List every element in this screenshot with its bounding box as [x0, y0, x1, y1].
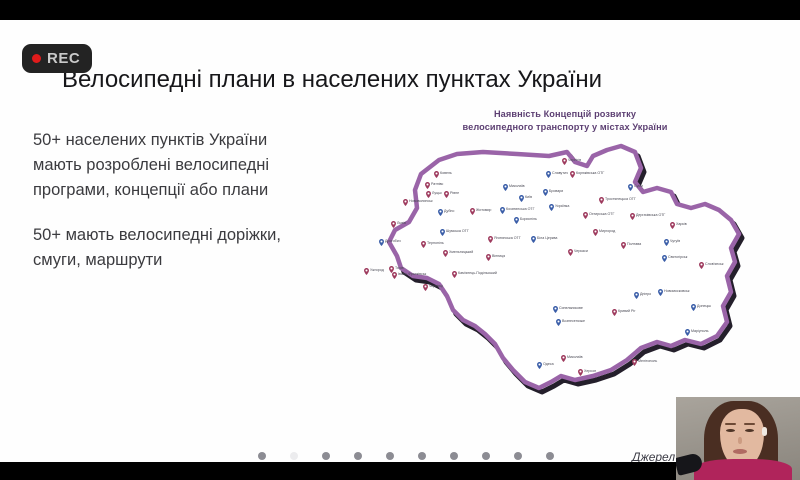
city-label: Ратнівс	[431, 182, 443, 186]
city-label: Миргород	[599, 229, 615, 233]
city-label: Нововолинськ	[409, 199, 433, 203]
speaker-nose	[738, 437, 742, 444]
map-pin-icon	[691, 298, 696, 316]
city-label: Українка	[555, 204, 569, 208]
map-pin-icon	[670, 216, 675, 234]
map-pin-icon	[578, 363, 583, 381]
city-label: Ужгород	[370, 268, 384, 272]
city-label: Чугуїв	[670, 239, 680, 243]
city-label: Тростянецька ОТГ	[605, 197, 636, 201]
map-pin-icon	[531, 230, 536, 248]
map-pin-icon	[438, 203, 443, 221]
city-label: Ковель	[440, 171, 452, 175]
city-label: Київ	[525, 195, 532, 199]
map-pin-icon	[500, 201, 505, 219]
pagination-dot[interactable]	[482, 452, 490, 460]
city-label: Кривий Ріг	[618, 309, 636, 313]
letterbox-top	[0, 0, 800, 20]
city-label: Слов'янськ	[705, 262, 724, 266]
speaker-eye-right	[745, 429, 754, 432]
pagination-dot[interactable]	[354, 452, 362, 460]
map-pin-icon	[423, 278, 428, 296]
city-label: Полтава	[627, 242, 641, 246]
pagination-dot[interactable]	[514, 452, 522, 460]
city-label: Славутич	[552, 171, 568, 175]
map-pin-icon	[391, 215, 396, 233]
map-pin-icon	[503, 178, 508, 196]
map-pin-icon	[440, 223, 445, 241]
map-pin-icon	[434, 165, 439, 183]
earbud-icon	[762, 427, 767, 436]
recording-label: REC	[47, 50, 80, 67]
city-label: Корюківська ОТГ	[576, 171, 604, 175]
pagination-dot[interactable]	[322, 452, 330, 460]
body-text-block: 50+ населених пунктів України мають розр…	[33, 128, 313, 273]
city-label: Хмельницький	[449, 250, 473, 254]
city-label: Біла Церква	[537, 236, 557, 240]
map-pin-icon	[556, 313, 561, 331]
city-label: Бровари	[549, 189, 563, 193]
pagination-dot[interactable]	[386, 452, 394, 460]
city-label: Суми	[634, 184, 643, 188]
page-title: Велосипедні плани в населених пунктах Ук…	[62, 66, 762, 94]
map-pin-icon	[546, 165, 551, 183]
map-pin-icon	[519, 189, 524, 207]
record-dot-icon	[32, 54, 41, 63]
city-label: Охтирська ОТГ	[589, 212, 614, 216]
city-label: Херсон	[584, 369, 596, 373]
map-pin-icon	[562, 152, 567, 170]
city-label: Миколаїв	[509, 184, 525, 188]
city-label: Рівне	[450, 191, 459, 195]
city-label: Дергачівська ОТГ	[636, 213, 665, 217]
city-label: Одеса	[543, 362, 554, 366]
city-label: Луцьк	[432, 191, 442, 195]
city-label: Львів	[397, 221, 406, 225]
pagination-dot[interactable]	[418, 452, 426, 460]
map-pin-icon	[599, 191, 604, 209]
city-label: Бориспіль	[520, 217, 537, 221]
map-title-line-1: Наявність Концепцій розвитку	[400, 108, 730, 121]
city-label: Синельникове	[559, 306, 583, 310]
map-pin-icon	[634, 286, 639, 304]
speaker-brow-right	[744, 423, 755, 425]
map-pin-icon	[392, 266, 397, 284]
map-pin-icon	[537, 356, 542, 374]
pagination-dot[interactable]	[290, 452, 298, 460]
map-pin-icon	[561, 349, 566, 367]
map-pin-icon	[403, 193, 408, 211]
map-pin-icon	[379, 233, 384, 251]
map-pin-icon	[628, 178, 633, 196]
recording-badge: REC	[22, 44, 92, 73]
city-label: Дубно	[444, 209, 454, 213]
city-label: Донецьк	[697, 304, 711, 308]
map-pin-icon	[568, 243, 573, 261]
city-label: Козятинська ОТГ	[506, 207, 535, 211]
speaker-eye-left	[726, 429, 735, 432]
map-pin-icon	[632, 353, 637, 371]
city-label: Яготинська ОТГ	[494, 236, 521, 240]
map-pin-icon	[630, 207, 635, 225]
city-label: Святогірськ	[668, 255, 687, 259]
city-label: Маріуполь	[691, 329, 708, 333]
map-pin-icon	[470, 202, 475, 220]
map-pin-icon	[486, 248, 491, 266]
city-label: Дніпро	[640, 292, 651, 296]
pagination-dot[interactable]	[450, 452, 458, 460]
map-pin-icon	[583, 206, 588, 224]
city-label: Мелітополь	[638, 359, 657, 363]
map-pin-icon	[593, 223, 598, 241]
map-pin-icon	[452, 265, 457, 283]
city-label: Миколаїв	[567, 355, 583, 359]
map-pin-icon	[699, 256, 704, 274]
map-pin-icon	[612, 303, 617, 321]
city-label: Тернопіль	[427, 241, 444, 245]
map-pin-icon	[570, 165, 575, 183]
city-label: Чернівці	[429, 284, 443, 288]
body-paragraph-2: 50+ мають велосипедні доріжки, смуги, ма…	[33, 223, 313, 273]
speaker-shirt	[694, 459, 792, 480]
city-label: Житомир	[476, 208, 491, 212]
city-label: Вознесенське	[562, 319, 585, 323]
city-label: Дрогобич	[385, 239, 401, 243]
screen: Велосипедні плани в населених пунктах Ук…	[0, 0, 800, 480]
body-paragraph-1: 50+ населених пунктів України мають розр…	[33, 128, 313, 203]
city-label: Шумська ОТГ	[446, 229, 469, 233]
map-pin-icon	[662, 249, 667, 267]
pagination-dots[interactable]	[258, 452, 554, 460]
map-pin-icon	[421, 235, 426, 253]
map-pin-icon	[658, 283, 663, 301]
map-pin-icon	[621, 236, 626, 254]
city-label: Черкаси	[574, 249, 588, 253]
map-pin-icon	[444, 185, 449, 203]
pagination-dot[interactable]	[546, 452, 554, 460]
map-pin-icon	[514, 211, 519, 229]
speaker-brow-left	[725, 423, 736, 425]
map-pin-icon	[549, 198, 554, 216]
presentation-slide: Велосипедні плани в населених пунктах Ук…	[0, 20, 800, 462]
map-pin-icon	[488, 230, 493, 248]
speaker-video-overlay[interactable]	[676, 397, 800, 480]
speaker-mouth	[733, 449, 747, 454]
city-label: Кам'янець-Подільський	[458, 271, 497, 275]
map-pin-icon	[443, 244, 448, 262]
city-label: Новомосковськ	[664, 289, 689, 293]
map-pin-icon	[543, 183, 548, 201]
city-label: Чернігів	[568, 158, 581, 162]
ukraine-map: Наявність Концепцій розвитку велосипедно…	[335, 108, 785, 418]
city-label: Івано-Франківськ	[398, 272, 426, 276]
pagination-dot[interactable]	[258, 452, 266, 460]
map-pin-icon	[364, 262, 369, 280]
map-pin-icon	[685, 323, 690, 341]
city-label: Харків	[676, 222, 687, 226]
city-label: Вінниця	[492, 254, 505, 258]
